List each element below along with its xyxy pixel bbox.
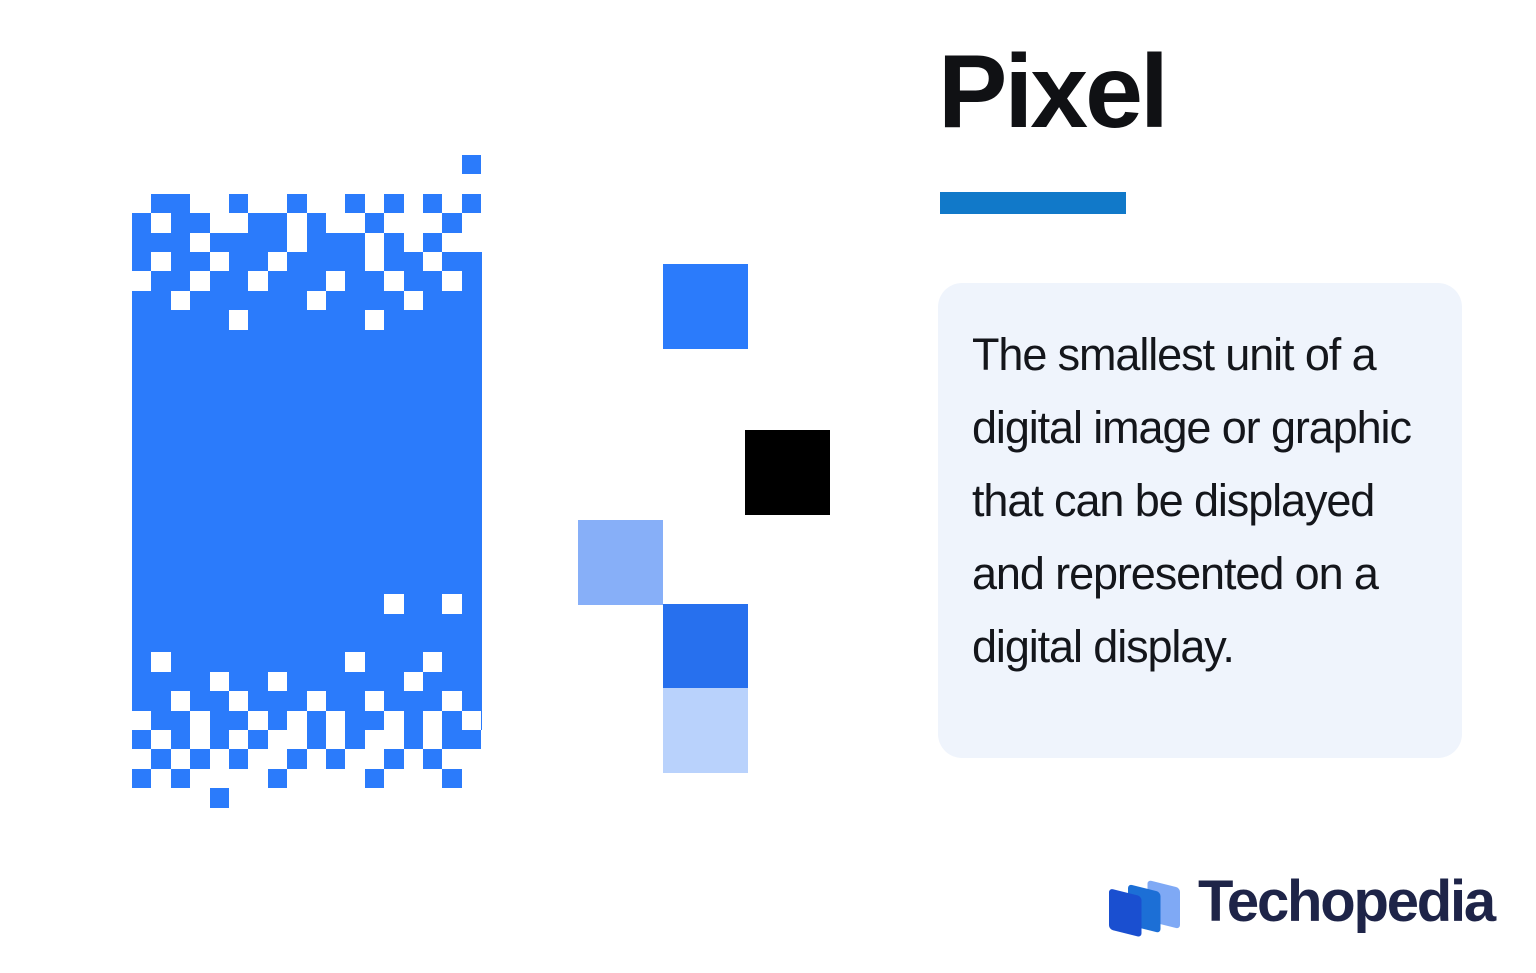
mosaic-pixel-cell <box>326 233 345 252</box>
page-title: Pixel <box>938 36 1166 148</box>
mosaic-hole-cell <box>345 652 364 671</box>
mosaic-pixel-cell <box>326 252 345 271</box>
mosaic-pixel-cell <box>423 233 442 252</box>
mosaic-pixel-cell <box>268 213 287 232</box>
mosaic-pixel-cell <box>229 749 248 768</box>
infographic-canvas: Pixel The smallest unit of a digital ima… <box>0 0 1536 973</box>
title-underline-rule <box>940 192 1126 214</box>
mosaic-pixel-cell <box>462 252 481 271</box>
mosaic-pixel-cell <box>462 730 481 749</box>
mosaic-pixel-cell <box>210 730 229 749</box>
mosaic-pixel-cell <box>248 252 267 271</box>
mosaic-pixel-cell <box>151 749 170 768</box>
definition-card: The smallest unit of a digital image or … <box>938 283 1462 758</box>
mosaic-pixel-cell <box>442 213 461 232</box>
mosaic-pixel-cell <box>132 213 151 232</box>
mosaic-pixel-cell <box>171 252 190 271</box>
mosaic-hole-cell <box>326 271 345 290</box>
mosaic-pixel-cell <box>151 233 170 252</box>
pale-blue-pixel <box>663 688 748 773</box>
mosaic-hole-cell <box>190 711 209 730</box>
mosaic-pixel-cell <box>229 252 248 271</box>
mosaic-hole-cell <box>190 271 209 290</box>
mosaic-hole-cell <box>229 691 248 710</box>
mosaic-pixel-cell <box>384 194 403 213</box>
mosaic-hole-cell <box>462 711 481 730</box>
mosaic-pixel-cell <box>210 233 229 252</box>
mosaic-pixel-cell <box>132 769 151 788</box>
techopedia-logo[interactable]: Techopedia <box>1108 862 1480 942</box>
mosaic-pixel-cell <box>384 233 403 252</box>
mosaic-hole-cell <box>268 672 287 691</box>
mosaic-pixel-cell <box>171 233 190 252</box>
definition-text: The smallest unit of a digital image or … <box>972 319 1422 683</box>
mosaic-pixel-cell <box>171 194 190 213</box>
mosaic-hole-cell <box>210 672 229 691</box>
mosaic-hole-cell <box>171 291 190 310</box>
mosaic-pixel-cell <box>248 213 267 232</box>
mosaic-hole-cell <box>442 594 461 613</box>
mosaic-pixel-cell <box>287 749 306 768</box>
mosaic-hole-cell <box>229 310 248 329</box>
mosaic-hole-cell <box>442 271 461 290</box>
mosaic-hole-cell <box>151 252 170 271</box>
mosaic-pixel-cell <box>442 769 461 788</box>
mosaic-pixel-cell <box>307 252 326 271</box>
mosaic-pixel-cell <box>268 769 287 788</box>
strong-blue-pixel <box>663 604 748 689</box>
mosaic-hole-cell <box>307 691 326 710</box>
mosaic-hole-cell <box>151 652 170 671</box>
mosaic-hole-cell <box>384 711 403 730</box>
mosaic-pixel-cell <box>171 730 190 749</box>
mosaic-pixel-cell <box>248 730 267 749</box>
medium-blue-pixel <box>578 520 663 605</box>
mosaic-hole-cell <box>384 594 403 613</box>
mosaic-hole-cell <box>248 271 267 290</box>
mosaic-hole-cell <box>132 271 151 290</box>
mosaic-pixel-cell <box>190 749 209 768</box>
mosaic-pixel-cell <box>287 194 306 213</box>
pixel-dissolve-illustration <box>0 0 560 973</box>
mosaic-pixel-cell <box>423 749 442 768</box>
mosaic-pixel-cell <box>171 769 190 788</box>
mosaic-hole-cell <box>423 652 442 671</box>
brand-wordmark: Techopedia <box>1198 873 1494 931</box>
mosaic-pixel-cell <box>345 730 364 749</box>
mosaic-pixel-cell <box>307 213 326 232</box>
mosaic-pixel-cell <box>287 252 306 271</box>
mosaic-hole-cell <box>171 691 190 710</box>
mosaic-pixel-cell <box>326 749 345 768</box>
mosaic-pixel-cell <box>307 233 326 252</box>
mosaic-hole-cell <box>287 711 306 730</box>
black-pixel <box>745 430 830 515</box>
mosaic-hole-cell <box>404 291 423 310</box>
mosaic-pixel-cell <box>132 252 151 271</box>
mosaic-pixel-cell <box>404 730 423 749</box>
mosaic-pixel-cell <box>171 213 190 232</box>
mosaic-hole-cell <box>210 252 229 271</box>
floating-pixel-swatches <box>560 240 860 800</box>
mosaic-pixel-cell <box>151 194 170 213</box>
mosaic-hole-cell <box>268 252 287 271</box>
mosaic-pixel-cell <box>462 155 481 174</box>
mosaic-hole-cell <box>326 711 345 730</box>
mosaic-pixel-cell <box>404 252 423 271</box>
bright-blue-pixel <box>663 264 748 349</box>
mosaic-pixel-cell <box>345 194 364 213</box>
mosaic-hole-cell <box>132 711 151 730</box>
mosaic-pixel-cell <box>132 730 151 749</box>
mosaic-pixel-cell <box>210 788 229 807</box>
mosaic-pixel-cell <box>190 213 209 232</box>
mosaic-hole-cell <box>423 252 442 271</box>
mosaic-hole-cell <box>404 672 423 691</box>
content-column: Pixel The smallest unit of a digital ima… <box>938 0 1498 973</box>
mosaic-hole-cell <box>307 291 326 310</box>
mosaic-hole-cell <box>365 310 384 329</box>
mosaic-pixel-cell <box>365 769 384 788</box>
mosaic-pixel-cell <box>384 252 403 271</box>
mosaic-pixel-cell <box>190 252 209 271</box>
mosaic-pixel-cell <box>462 194 481 213</box>
mosaic-hole-cell <box>423 711 442 730</box>
mosaic-pixel-cell <box>229 194 248 213</box>
mosaic-pixel-cell <box>345 252 364 271</box>
mosaic-pixel-cell <box>248 233 267 252</box>
techopedia-stacked-panels-icon <box>1108 867 1184 937</box>
mosaic-pixel-cell <box>365 213 384 232</box>
mosaic-pixel-cell <box>307 730 326 749</box>
mosaic-hole-cell <box>442 691 461 710</box>
mosaic-hole-cell <box>248 711 267 730</box>
mosaic-pixel-cell <box>423 194 442 213</box>
mosaic-hole-cell <box>365 252 384 271</box>
mosaic-pixel-cell <box>132 233 151 252</box>
mosaic-pixel-cell <box>442 252 461 271</box>
mosaic-pixel-cell <box>384 749 403 768</box>
mosaic-hole-cell <box>384 271 403 290</box>
mosaic-pixel-cell <box>345 233 364 252</box>
mosaic-pixel-cell <box>268 233 287 252</box>
mosaic-pixel-cell <box>229 233 248 252</box>
mosaic-pixel-cell <box>442 730 461 749</box>
mosaic-hole-cell <box>365 691 384 710</box>
